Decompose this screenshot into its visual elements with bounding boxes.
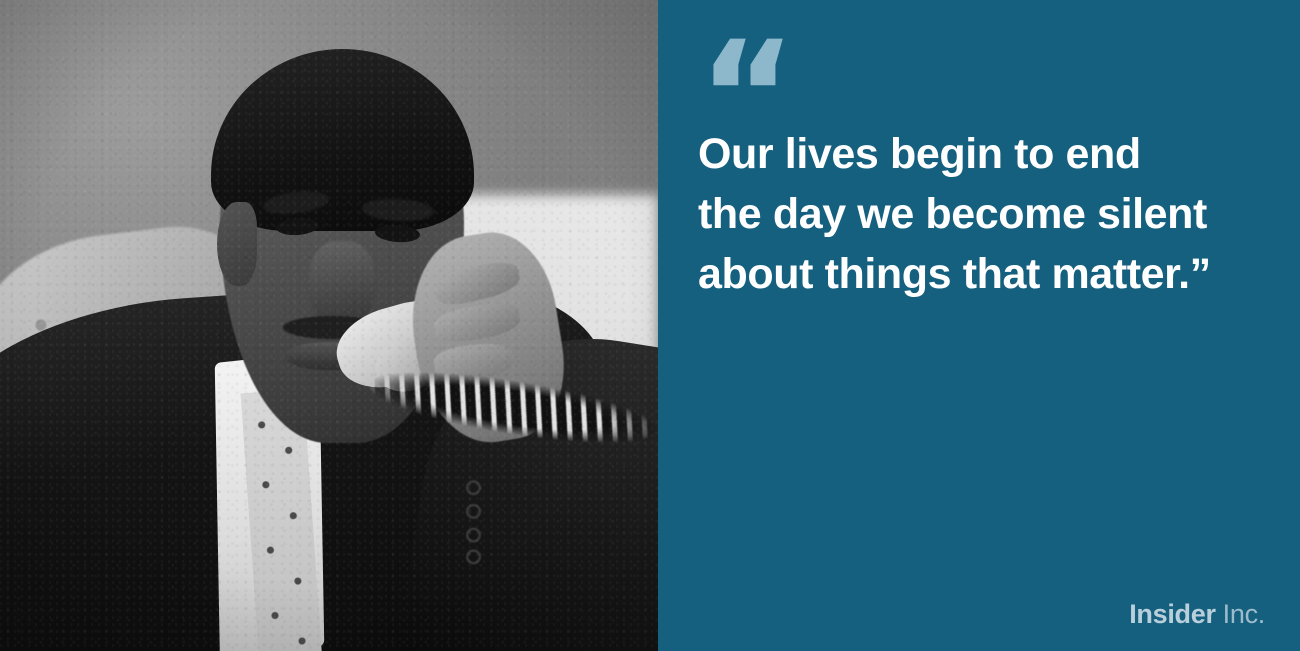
- brand-name: Insider: [1129, 601, 1215, 628]
- insider-inc-logo: Insider Inc.: [1129, 601, 1265, 628]
- quote-panel: “ Our lives begin to end the day we beco…: [658, 0, 1300, 651]
- brand-suffix: Inc.: [1223, 601, 1265, 628]
- quote-line: Our lives begin to end: [698, 124, 1258, 184]
- quote-line: about things that matter.”: [698, 244, 1258, 304]
- quote-text: Our lives begin to end the day we become…: [698, 124, 1258, 304]
- photo-vignette: [0, 0, 658, 651]
- quote-line: the day we become silent: [698, 184, 1258, 244]
- quote-card: “ Our lives begin to end the day we beco…: [0, 0, 1300, 651]
- portrait-photo: [0, 0, 658, 651]
